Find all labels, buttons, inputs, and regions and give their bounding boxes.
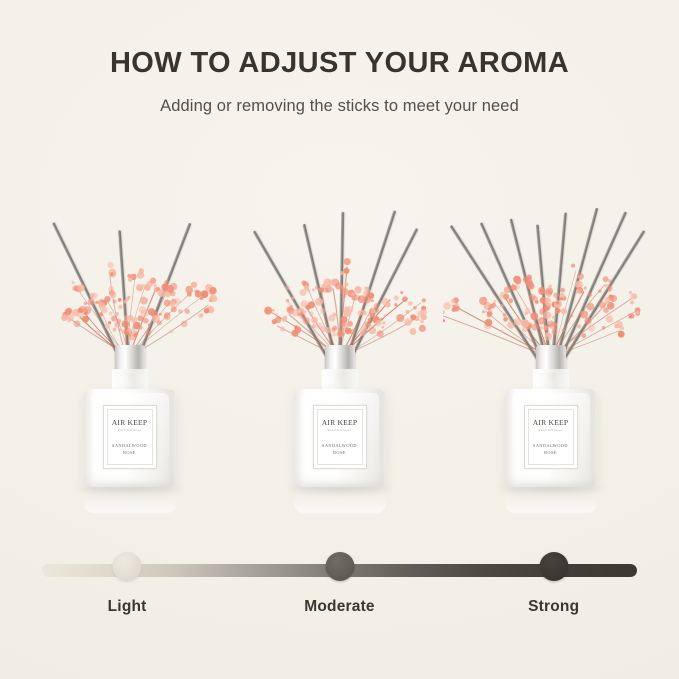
bottle-label-inner: AIR KEEPReed DiffuserSANDALWOODROSE — [528, 409, 574, 465]
brand-tagline: Reed Diffuser — [328, 428, 352, 432]
slider-knob-moderate[interactable] — [325, 552, 354, 581]
bottle-label: AIR KEEPReed DiffuserSANDALWOODROSE — [313, 405, 367, 469]
bottle-shadow — [284, 483, 396, 494]
infographic-page: HOW TO ADJUST YOUR AROMA Adding or remov… — [0, 0, 679, 679]
product-moderate: AIR KEEPReed DiffuserSANDALWOODROSE — [232, 150, 447, 520]
product-light: AIR KEEPReed DiffuserSANDALWOODROSE — [22, 150, 237, 520]
product-strong: AIR KEEPReed DiffuserSANDALWOODROSE — [443, 150, 658, 520]
slider-knob-light[interactable] — [113, 552, 142, 581]
header: HOW TO ADJUST YOUR AROMA Adding or remov… — [0, 48, 679, 116]
brand-name: AIR KEEP — [112, 418, 148, 427]
diffuser-bottle-strong[interactable]: AIR KEEPReed DiffuserSANDALWOODROSE — [501, 345, 601, 495]
bottle-shadow — [495, 483, 607, 494]
brand-name: AIR KEEP — [322, 418, 358, 427]
slider-label-light: Light — [108, 598, 147, 616]
bottle-label: AIR KEEPReed DiffuserSANDALWOODROSE — [524, 405, 578, 469]
aroma-intensity-slider[interactable] — [42, 556, 637, 586]
page-title: HOW TO ADJUST YOUR AROMA — [0, 48, 679, 80]
scent-name: SANDALWOODROSE — [533, 443, 568, 456]
page-subtitle: Adding or removing the sticks to meet yo… — [0, 97, 679, 116]
brand-name: AIR KEEP — [533, 418, 569, 427]
slider-label-moderate: Moderate — [304, 598, 375, 616]
bottle-shadow — [74, 483, 186, 494]
bottle-body: AIR KEEPReed DiffuserSANDALWOODROSE — [505, 389, 597, 487]
slider-label-row: Light Moderate Strong — [42, 598, 637, 624]
bottle-label: AIR KEEPReed DiffuserSANDALWOODROSE — [103, 405, 157, 469]
brand-tagline: Reed Diffuser — [118, 428, 142, 432]
slider-knob-strong[interactable] — [539, 552, 568, 581]
scent-name: SANDALWOODROSE — [322, 443, 357, 456]
scent-name: SANDALWOODROSE — [112, 443, 147, 456]
slider-label-strong: Strong — [528, 598, 579, 616]
bottle-label-inner: AIR KEEPReed DiffuserSANDALWOODROSE — [107, 409, 153, 465]
bottle-body: AIR KEEPReed DiffuserSANDALWOODROSE — [294, 389, 386, 487]
brand-tagline: Reed Diffuser — [539, 428, 563, 432]
diffuser-bottle-moderate[interactable]: AIR KEEPReed DiffuserSANDALWOODROSE — [290, 345, 390, 495]
bottle-label-inner: AIR KEEPReed DiffuserSANDALWOODROSE — [317, 409, 363, 465]
product-row: AIR KEEPReed DiffuserSANDALWOODROSEAIR K… — [0, 150, 679, 520]
diffuser-bottle-light[interactable]: AIR KEEPReed DiffuserSANDALWOODROSE — [80, 345, 180, 495]
bottle-body: AIR KEEPReed DiffuserSANDALWOODROSE — [84, 389, 176, 487]
